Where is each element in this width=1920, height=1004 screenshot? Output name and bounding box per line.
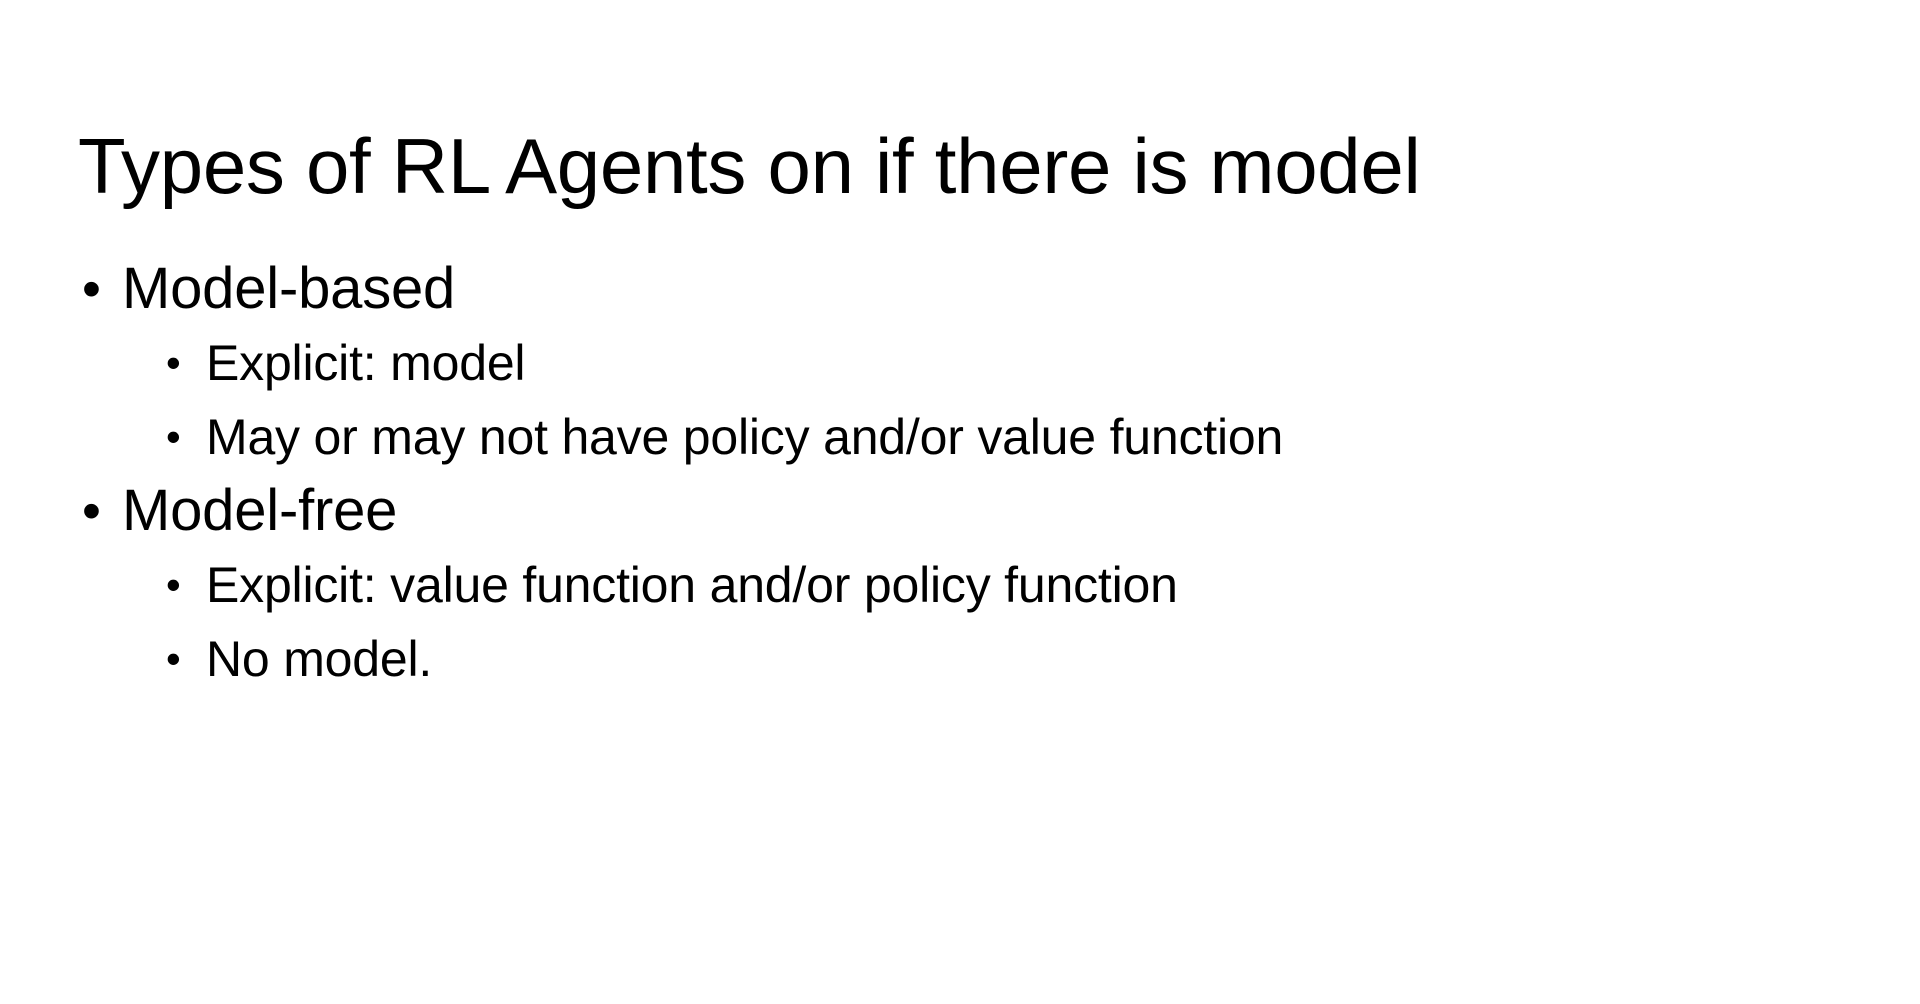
bullet-point-icon: • [166,326,206,400]
bullet-list: • Model-based • Explicit: model • May or… [78,252,1858,696]
bullet-text: Explicit: model [206,326,525,400]
sub-bullet-list: • Explicit: model • May or may not have … [78,326,1858,474]
bullet-item-level1: • Model-based [78,252,1858,326]
bullet-text: Model-based [122,252,455,326]
bullet-point-icon: • [166,622,206,696]
bullet-point-icon: • [166,400,206,474]
bullet-item-level1: • Model-free [78,474,1858,548]
bullet-text: No model. [206,622,432,696]
bullet-item-level2: • Explicit: model [166,326,1858,400]
bullet-item-level2: • No model. [166,622,1858,696]
bullet-point-icon: • [82,474,122,548]
bullet-text: Model-free [122,474,397,548]
bullet-item-level2: • Explicit: value function and/or policy… [166,548,1858,622]
bullet-point-icon: • [82,252,122,326]
presentation-slide: Types of RL Agents on if there is model … [0,0,1920,1004]
slide-title: Types of RL Agents on if there is model [78,124,1838,208]
slide-body: • Model-based • Explicit: model • May or… [78,252,1858,696]
sub-bullet-list: • Explicit: value function and/or policy… [78,548,1858,696]
bullet-item-level2: • May or may not have policy and/or valu… [166,400,1858,474]
bullet-text: May or may not have policy and/or value … [206,400,1283,474]
bullet-text: Explicit: value function and/or policy f… [206,548,1178,622]
bullet-point-icon: • [166,548,206,622]
